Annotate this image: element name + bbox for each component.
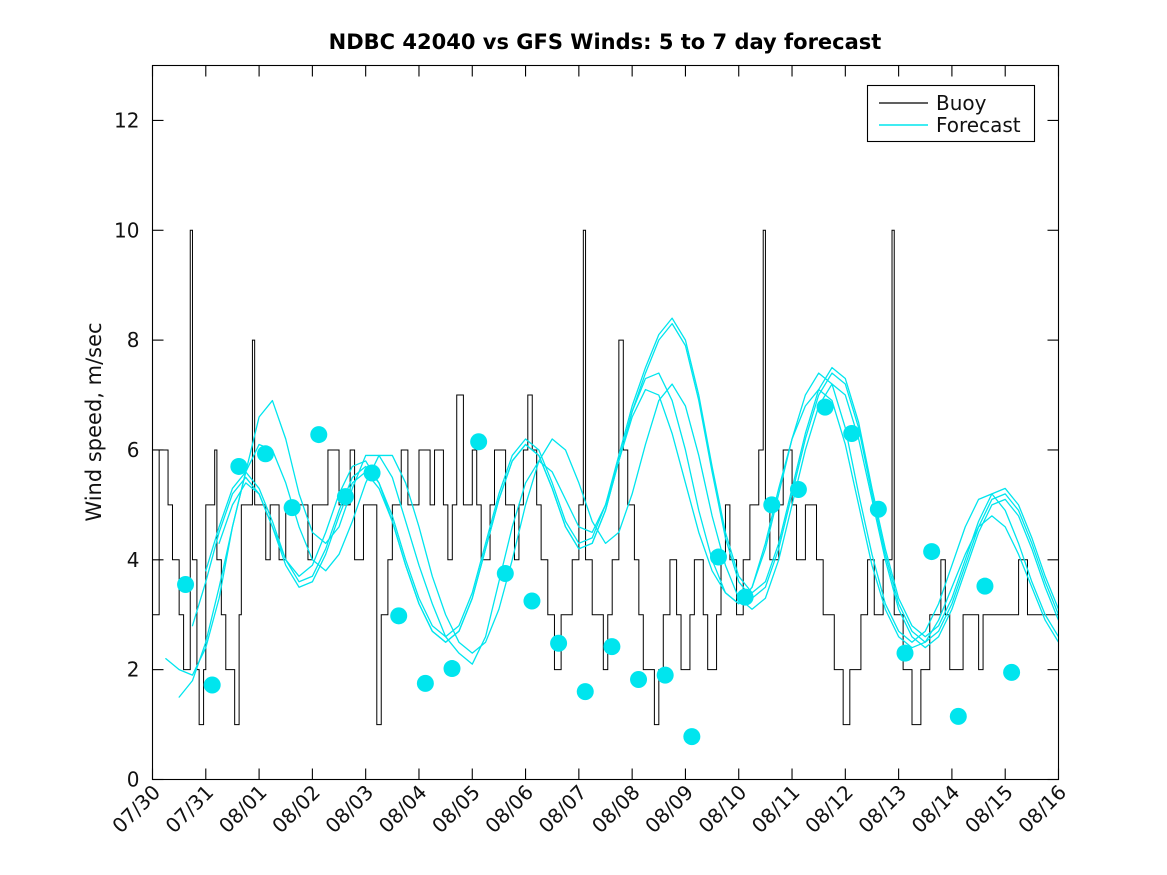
- forecast-point-marker: [923, 543, 940, 560]
- forecast-point-marker: [444, 660, 461, 677]
- forecast-point-marker: [630, 671, 647, 688]
- y-tick-label: 10: [114, 218, 139, 242]
- wind-speed-comparison-chart: NDBC 42040 vs GFS Winds: 5 to 7 day fore…: [0, 0, 1167, 875]
- y-tick-label: 4: [127, 548, 140, 572]
- forecast-point-marker: [284, 499, 301, 516]
- forecast-point-marker: [390, 607, 407, 624]
- forecast-point-marker: [657, 667, 674, 684]
- forecast-point-marker: [497, 565, 514, 582]
- forecast-point-marker: [870, 501, 887, 518]
- forecast-point-marker: [310, 426, 327, 443]
- forecast-point-marker: [337, 488, 354, 505]
- legend-label-buoy: Buoy: [936, 91, 987, 115]
- y-axis-label: Wind speed, m/sec: [82, 322, 106, 521]
- page-title: NDBC 42040 vs GFS Winds: 5 to 7 day fore…: [329, 30, 882, 54]
- forecast-point-marker: [577, 683, 594, 700]
- forecast-point-marker: [790, 481, 807, 498]
- forecast-point-marker: [843, 425, 860, 442]
- y-tick-label: 2: [127, 658, 140, 682]
- forecast-point-marker: [204, 677, 221, 694]
- forecast-point-marker: [976, 578, 993, 595]
- y-tick-label: 12: [114, 108, 139, 132]
- forecast-point-marker: [1003, 664, 1020, 681]
- forecast-point-marker: [470, 433, 487, 450]
- chart-canvas: NDBC 42040 vs GFS Winds: 5 to 7 day fore…: [0, 0, 1167, 875]
- forecast-point-marker: [737, 589, 754, 606]
- forecast-point-marker: [950, 708, 967, 725]
- y-tick-label: 8: [127, 328, 140, 352]
- legend[interactable]: Buoy Forecast: [868, 86, 1035, 142]
- forecast-point-marker: [230, 458, 247, 475]
- forecast-point-marker: [710, 549, 727, 566]
- forecast-point-marker: [763, 496, 780, 513]
- legend-label-forecast: Forecast: [936, 113, 1021, 137]
- forecast-point-marker: [683, 728, 700, 745]
- forecast-point-marker: [603, 638, 620, 655]
- forecast-point-marker: [550, 635, 567, 652]
- forecast-point-marker: [817, 399, 834, 416]
- y-tick-label: 0: [127, 768, 140, 792]
- forecast-point-marker: [364, 465, 381, 482]
- forecast-point-marker: [897, 645, 914, 662]
- forecast-point-marker: [523, 593, 540, 610]
- y-tick-label: 6: [127, 438, 140, 462]
- forecast-point-marker: [177, 576, 194, 593]
- forecast-point-marker: [257, 445, 274, 462]
- forecast-point-marker: [417, 675, 434, 692]
